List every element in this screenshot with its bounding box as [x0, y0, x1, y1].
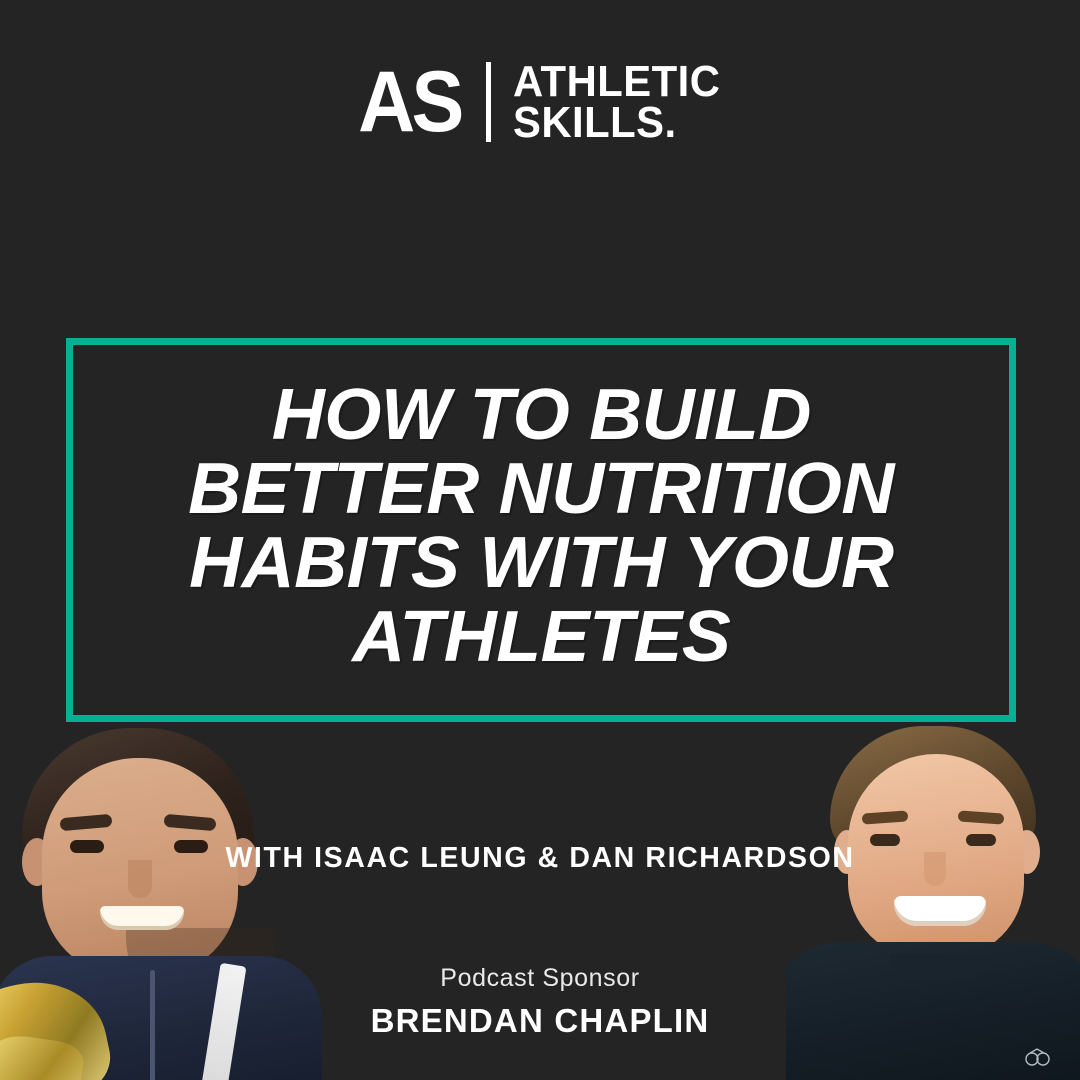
brand-wordmark-line2: SKILLS.	[513, 102, 720, 143]
as-monogram-icon: AS	[358, 60, 462, 144]
vertical-divider-icon	[486, 62, 491, 142]
title-line-2: BETTER NUTRITION	[188, 452, 894, 526]
sponsor-name: BRENDAN CHAPLIN	[0, 1002, 1080, 1040]
mouth-shape	[894, 896, 986, 926]
title-frame: HOW TO BUILD BETTER NUTRITION HABITS WIT…	[66, 338, 1016, 722]
guests-line: WITH ISAAC LEUNG & DAN RICHARDSON	[0, 842, 1080, 875]
title-line-1: HOW TO BUILD	[271, 378, 810, 452]
podcast-cover-poster: AS ATHLETIC SKILLS.	[0, 0, 1080, 1080]
mouth-shape	[100, 906, 184, 930]
shirt-logo-icon	[1024, 1046, 1050, 1068]
brand-wordmark-line1: ATHLETIC	[513, 61, 720, 102]
sponsor-block: Podcast Sponsor BRENDAN CHAPLIN	[0, 964, 1080, 1040]
title-line-3: HABITS WITH YOUR	[189, 526, 893, 600]
title-line-4: ATHLETES	[352, 600, 730, 674]
sponsor-label: Podcast Sponsor	[0, 964, 1080, 993]
brand-wordmark: ATHLETIC SKILLS.	[513, 61, 731, 144]
brand-logo: AS ATHLETIC SKILLS.	[0, 52, 1080, 152]
